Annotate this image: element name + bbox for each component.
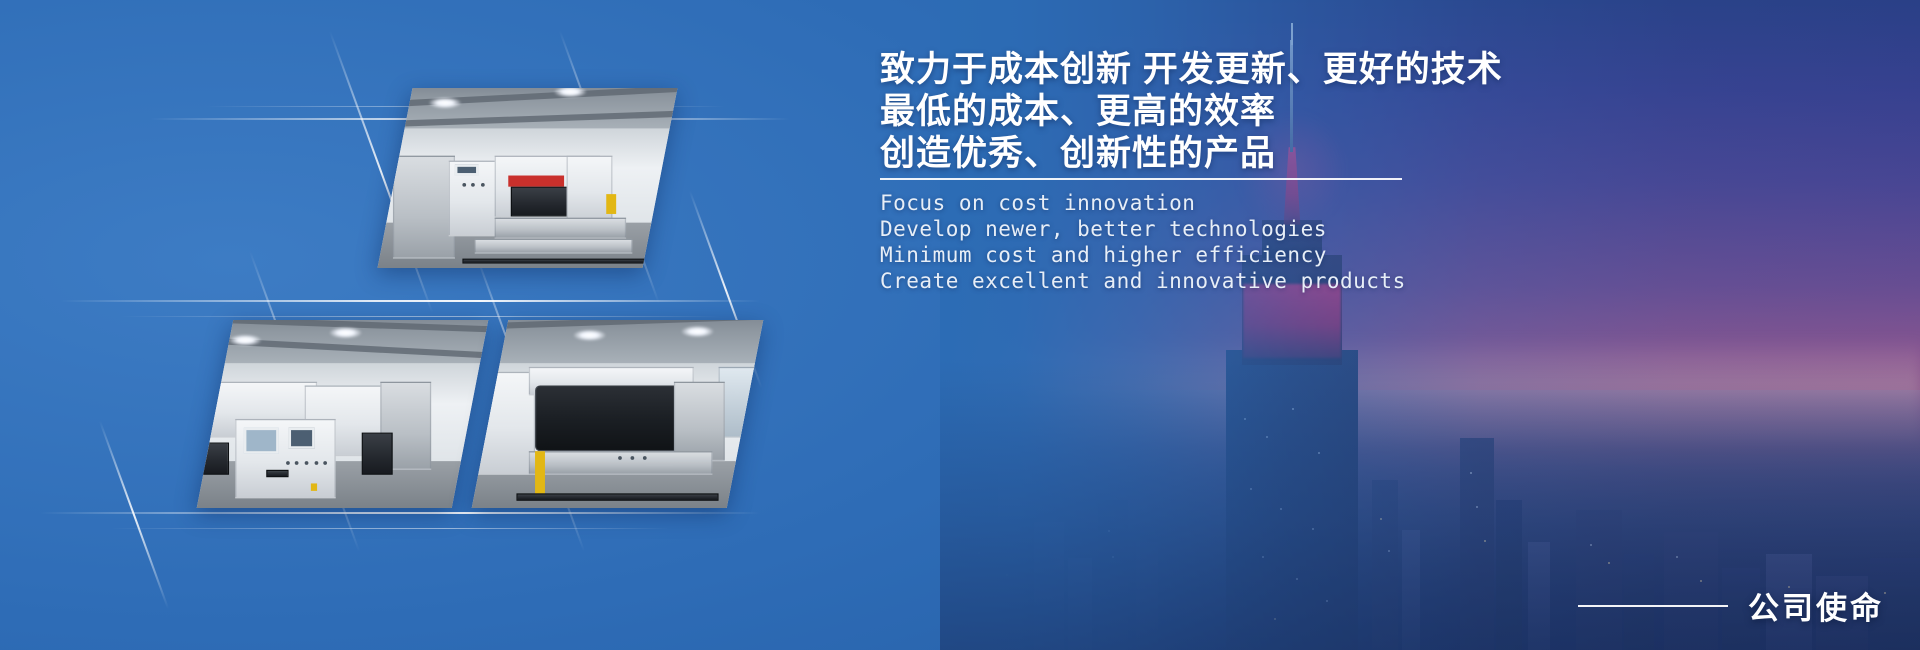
- subhead-en-line-4: Create excellent and innovative products: [880, 268, 1780, 294]
- light-streak: [60, 300, 760, 302]
- subhead-en-line-3: Minimum cost and higher efficiency: [880, 242, 1780, 268]
- subhead-en-line-2: Develop newer, better technologies: [880, 216, 1780, 242]
- headline-underline-rule: [880, 178, 1402, 180]
- headline-cn-line-2: 最低的成本、更高的效率: [880, 94, 1780, 130]
- light-streak-diagonal: [99, 420, 169, 608]
- light-streak: [110, 528, 670, 529]
- mission-tag-dash: [1578, 605, 1728, 607]
- headline-cn-line-1: 致力于成本创新 开发更新、更好的技术: [880, 52, 1780, 88]
- mission-tag-label: 公司使命: [1748, 583, 1884, 628]
- collage-photo-1: [378, 88, 678, 268]
- mission-tag: 公司使命: [1578, 583, 1884, 628]
- company-mission-banner: 致力于成本创新 开发更新、更好的技术 最低的成本、更高的效率 创造优秀、创新性的…: [0, 0, 1920, 650]
- headline-cn-line-3: 创造优秀、创新性的产品: [880, 136, 1780, 172]
- subhead-en-line-1: Focus on cost innovation: [880, 190, 1780, 216]
- photo-collage: [0, 0, 860, 650]
- collage-photo-2: [197, 320, 489, 508]
- light-streak: [120, 316, 720, 317]
- collage-photo-3: [472, 320, 764, 508]
- mission-text-block: 致力于成本创新 开发更新、更好的技术 最低的成本、更高的效率 创造优秀、创新性的…: [880, 52, 1780, 294]
- light-streak: [40, 512, 760, 514]
